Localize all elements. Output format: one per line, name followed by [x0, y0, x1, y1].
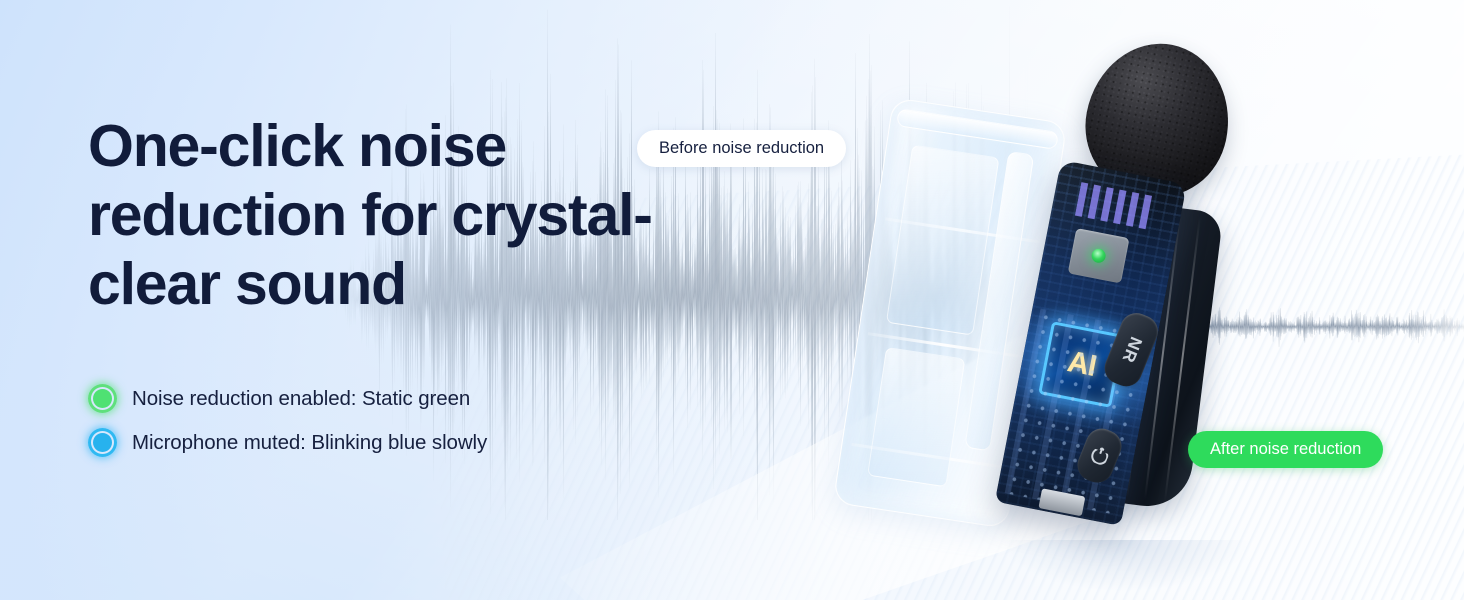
page-title: One-click noise reduction for crystal-cl… [88, 112, 688, 319]
list-item: Noise reduction enabled: Static green [88, 384, 487, 413]
promo-banner: AI NR One-click noise reduction for crys… [0, 0, 1464, 600]
before-noise-reduction-badge-label: Before noise reduction [659, 139, 824, 158]
green-led-indicator [88, 384, 117, 413]
headline-block: One-click noise reduction for crystal-cl… [88, 112, 688, 319]
list-item: Microphone muted: Blinking blue slowly [88, 428, 487, 457]
before-noise-reduction-badge: Before noise reduction [637, 130, 846, 167]
after-noise-reduction-badge-label: After noise reduction [1210, 440, 1361, 459]
list-item-label: Microphone muted: Blinking blue slowly [132, 431, 487, 455]
blue-led-indicator [88, 428, 117, 457]
led-legend-list: Noise reduction enabled: Static green Mi… [88, 384, 487, 472]
after-noise-reduction-badge: After noise reduction [1188, 431, 1383, 468]
lavalier-microphone: AI NR [1010, 38, 1270, 558]
list-item-label: Noise reduction enabled: Static green [132, 387, 470, 411]
power-icon [1088, 445, 1110, 467]
nr-button-label: NR [1117, 334, 1145, 366]
